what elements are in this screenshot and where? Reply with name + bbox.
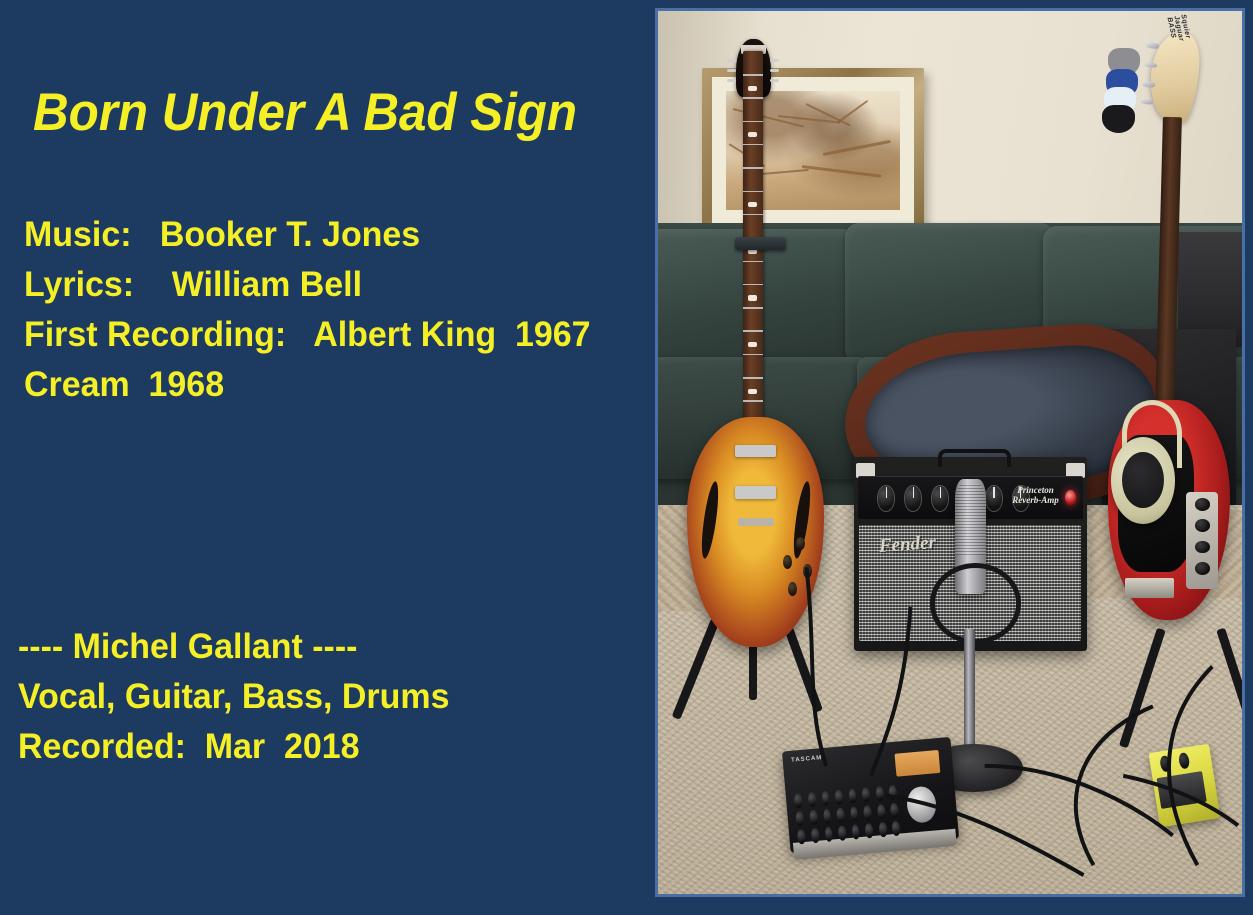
- guitar-bridge-pickup: [735, 486, 776, 499]
- bass-knob-2[interactable]: [1195, 519, 1210, 532]
- tascam-lcd-display: [895, 750, 941, 776]
- page-title: Born Under A Bad Sign: [33, 84, 600, 142]
- amp-model-line1: Princeton: [1017, 485, 1054, 495]
- photo-frame: Princeton Reverb-Amp Fender: [655, 8, 1245, 897]
- tascam-brand-label: TASCAM: [791, 755, 823, 764]
- mic-shock-mount: [930, 563, 1022, 644]
- guitar-knob-3[interactable]: [803, 564, 812, 578]
- mic-stand-pole: [964, 629, 975, 761]
- yellow-effects-pedal[interactable]: [1149, 744, 1221, 828]
- amp-model-line2: Reverb-Amp: [1012, 495, 1059, 505]
- guitar-pick-black: [1102, 105, 1134, 133]
- amp-knob-bass[interactable]: [932, 486, 948, 511]
- credit-line-second-recording: Cream 1968: [24, 360, 635, 410]
- sennheiser-headphones: [1111, 400, 1190, 532]
- bass-knob-1[interactable]: [1195, 498, 1210, 511]
- credit-line-first-recording: First Recording: Albert King 1967: [24, 310, 635, 360]
- presentation-slide: Born Under A Bad Sign Music: Booker T. J…: [0, 0, 1253, 915]
- bass-control-plate: [1186, 492, 1218, 589]
- sunburst-guitar-body: [687, 417, 824, 647]
- amp-power-jewel-light: [1065, 490, 1076, 505]
- amp-knob-volume[interactable]: [878, 486, 894, 511]
- headphone-earcup: [1111, 437, 1176, 524]
- pedal-footswitch[interactable]: [1157, 771, 1208, 809]
- amp-handle: [938, 449, 1011, 467]
- performer-recorded: Recorded: Mar 2018: [18, 722, 635, 772]
- text-panel: Born Under A Bad Sign Music: Booker T. J…: [0, 0, 656, 915]
- guitar-knob-2[interactable]: [783, 555, 792, 569]
- amp-model-label: Princeton Reverb-Amp: [1009, 485, 1063, 510]
- studio-photo: Princeton Reverb-Amp Fender: [658, 11, 1242, 894]
- guitar-knob-1[interactable]: [796, 537, 805, 551]
- tascam-recorder[interactable]: TASCAM: [782, 737, 960, 853]
- guitar-knob-4[interactable]: [788, 582, 797, 596]
- guitar-neck-pickup: [735, 445, 776, 458]
- performer-block: ---- Michel Gallant ---- Vocal, Guitar, …: [18, 622, 654, 772]
- pedal-knob-right[interactable]: [1179, 752, 1191, 770]
- bass-knob-4[interactable]: [1195, 562, 1210, 575]
- performer-instruments: Vocal, Guitar, Bass, Drums: [18, 672, 635, 722]
- amp-knob-speed[interactable]: [986, 486, 1002, 511]
- bass-knob-3[interactable]: [1195, 541, 1210, 554]
- credit-line-music: Music: Booker T. Jones: [24, 210, 635, 260]
- guitar-capo: [735, 237, 786, 250]
- credits-block: Music: Booker T. Jones Lyrics: William B…: [24, 210, 654, 410]
- amp-knob-treble[interactable]: [905, 486, 921, 511]
- amp-brand-logo: Fender: [879, 532, 937, 558]
- headphone-earcup-inner: [1122, 452, 1163, 508]
- bass-bridge: [1125, 578, 1174, 598]
- tascam-jog-wheel[interactable]: [906, 785, 938, 824]
- credit-line-lyrics: Lyrics: William Bell: [24, 260, 635, 310]
- pedal-knob-left[interactable]: [1159, 755, 1171, 773]
- guitar-bridge: [738, 518, 774, 526]
- mic-grille: [955, 484, 987, 555]
- framed-artwork: [702, 68, 924, 240]
- performer-name-line: ---- Michel Gallant ----: [18, 622, 635, 672]
